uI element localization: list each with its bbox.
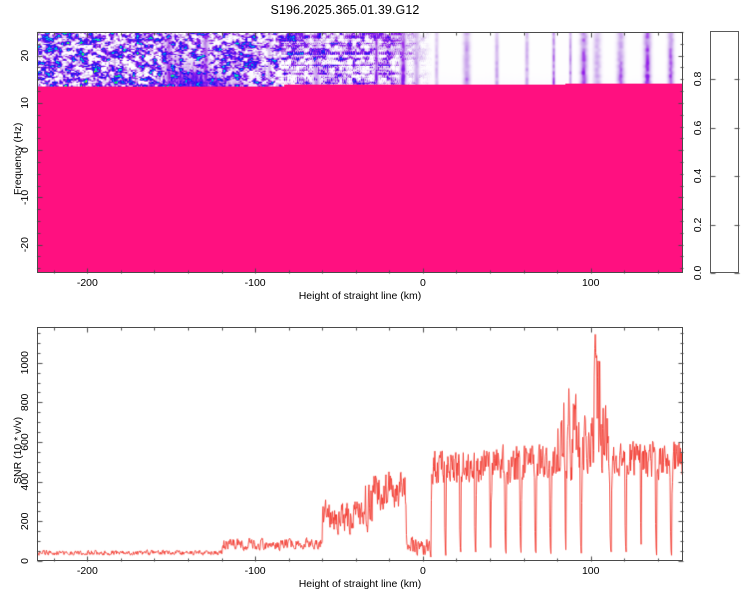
- spectrogram-x-axis-title: Height of straight line (km): [299, 290, 422, 302]
- colorbar-gradient: [710, 31, 739, 273]
- spectrogram-image: [38, 33, 682, 272]
- snr-ytick-1: 200: [19, 513, 31, 531]
- spectrogram-ytick-1: -10: [19, 190, 31, 205]
- spectrogram-xtick-0: -200: [77, 277, 98, 289]
- snr-ytick-3: 600: [19, 433, 31, 451]
- snr-panel: [37, 327, 683, 561]
- spectrogram-xtick-3: 100: [582, 277, 600, 289]
- figure-root: S196.2025.365.01.39.G12 Frequency (Hz) H…: [0, 0, 750, 600]
- snr-ytick-2: 400: [19, 473, 31, 491]
- figure-title: S196.2025.365.01.39.G12: [0, 3, 690, 17]
- colorbar-tick-0: 0.0: [692, 266, 704, 281]
- snr-ytick-5: 1000: [19, 351, 31, 374]
- snr-xtick-2: 0: [420, 565, 426, 577]
- colorbar-tick-4: 0.8: [692, 72, 704, 87]
- snr-ytick-4: 800: [19, 394, 31, 412]
- spectrogram-y-axis-title: Frequency (Hz): [12, 122, 24, 194]
- spectrogram-xtick-1: -100: [245, 277, 266, 289]
- snr-x-axis-title: Height of straight line (km): [299, 578, 422, 590]
- colorbar-tick-1: 0.2: [692, 218, 704, 233]
- snr-ytick-0: 0: [19, 558, 31, 564]
- spectrogram-ytick-2: 0: [19, 147, 31, 153]
- spectrogram-xtick-2: 0: [420, 277, 426, 289]
- snr-xtick-0: -200: [77, 565, 98, 577]
- spectrogram-ytick-0: -20: [19, 237, 31, 252]
- snr-line-plot: [38, 328, 682, 560]
- colorbar: [710, 31, 739, 273]
- snr-xtick-1: -100: [245, 565, 266, 577]
- colorbar-tick-2: 0.4: [692, 169, 704, 184]
- colorbar-tick-3: 0.6: [692, 121, 704, 136]
- spectrogram-ytick-3: 10: [19, 97, 31, 109]
- snr-xtick-3: 100: [582, 565, 600, 577]
- spectrogram-ytick-4: 20: [19, 50, 31, 62]
- spectrogram-panel: [37, 32, 683, 273]
